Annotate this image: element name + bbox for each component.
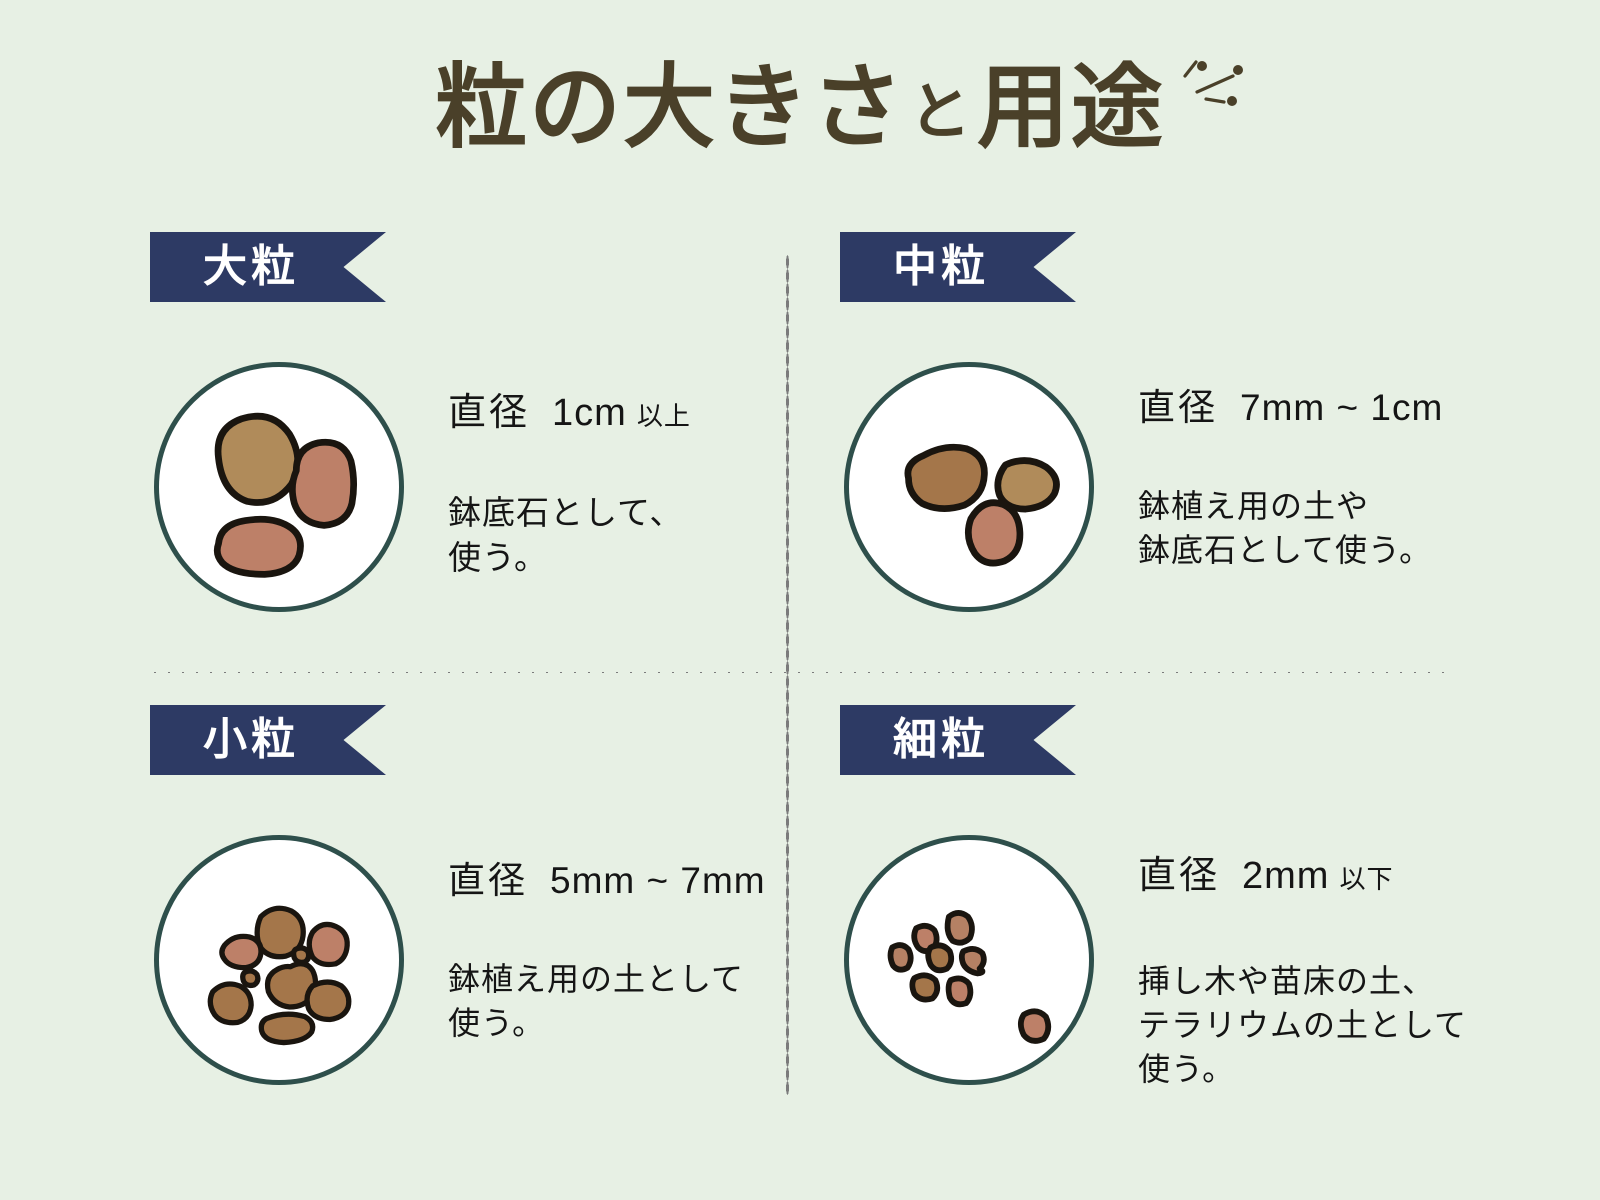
diameter-value: 7mm ~ 1cm bbox=[1218, 387, 1443, 428]
page-title-text: 粒の大きさと用途 bbox=[435, 60, 1165, 157]
granule-illustration-large bbox=[154, 362, 404, 612]
usage-line: 鉢底石として使う。 bbox=[1138, 528, 1518, 572]
banner-label: 細粒 bbox=[893, 718, 989, 762]
usage-line: 使う。 bbox=[448, 535, 828, 581]
banner-large: 大粒 bbox=[150, 232, 386, 302]
usage-line: 挿し木や苗床の土、 bbox=[1138, 959, 1518, 1003]
granule-illustration-small bbox=[154, 835, 404, 1085]
quadrant-small: 小粒 直径5mm ~ 7mm bbox=[130, 705, 830, 1145]
diameter-value: 1cm bbox=[530, 392, 627, 434]
usage-line: 使う。 bbox=[1138, 1047, 1518, 1091]
diameter-label: 直径 bbox=[1138, 387, 1218, 428]
diameter-suffix bbox=[766, 869, 776, 899]
usage-line: 鉢植え用の土として bbox=[448, 957, 828, 1001]
usage-fine: 挿し木や苗床の土、 テラリウムの土として 使う。 bbox=[1138, 959, 1518, 1091]
banner-fine: 細粒 bbox=[840, 705, 1076, 775]
diameter-line-medium: 直径7mm ~ 1cm bbox=[1138, 387, 1518, 430]
page-title: 粒の大きさと用途 bbox=[0, 60, 1600, 157]
banner-medium: 中粒 bbox=[840, 232, 1076, 302]
info-large: 直径1cm以上 鉢底石として、 使う。 bbox=[448, 392, 828, 581]
quadrant-fine: 細粒 直径2mm以下 挿し木や苗床の土、 bbox=[820, 705, 1520, 1145]
diameter-label: 直径 bbox=[448, 392, 530, 434]
granule-illustration-medium bbox=[844, 362, 1094, 612]
diameter-suffix: 以上 bbox=[627, 401, 691, 431]
banner-small: 小粒 bbox=[150, 705, 386, 775]
diameter-value: 5mm ~ 7mm bbox=[528, 860, 766, 901]
title-main: 粒の大きさ bbox=[435, 57, 905, 159]
diameter-line-large: 直径1cm以上 bbox=[448, 392, 828, 436]
infographic-poster: 粒の大きさと用途 大粒 直径1cm以上 bbox=[0, 0, 1600, 1200]
granule-illustration-fine bbox=[844, 835, 1094, 1085]
diameter-label: 直径 bbox=[448, 860, 528, 901]
usage-line: 鉢植え用の土や bbox=[1138, 484, 1518, 528]
info-small: 直径5mm ~ 7mm 鉢植え用の土として 使う。 bbox=[448, 860, 828, 1045]
diameter-line-small: 直径5mm ~ 7mm bbox=[448, 860, 828, 903]
diameter-label: 直径 bbox=[1138, 855, 1220, 897]
title-particle: と bbox=[905, 78, 977, 147]
usage-line: 鉢底石として、 bbox=[448, 490, 828, 536]
usage-large: 鉢底石として、 使う。 bbox=[448, 490, 828, 581]
usage-medium: 鉢植え用の土や 鉢底石として使う。 bbox=[1138, 484, 1518, 572]
banner-label: 中粒 bbox=[893, 245, 989, 289]
quadrant-large: 大粒 直径1cm以上 鉢底石として、 使う。 bbox=[130, 232, 830, 672]
diameter-line-fine: 直径2mm以下 bbox=[1138, 855, 1518, 899]
banner-label: 小粒 bbox=[203, 718, 299, 762]
usage-line: テラリウムの土として bbox=[1138, 1003, 1518, 1047]
quadrant-medium: 中粒 直径7mm ~ 1cm 鉢植え用の土や 鉢底石として使う。 bbox=[820, 232, 1520, 672]
diameter-value: 2mm bbox=[1220, 855, 1329, 897]
diameter-suffix: 以下 bbox=[1329, 864, 1393, 894]
title-tail: 用途 bbox=[977, 57, 1165, 159]
usage-line: 使う。 bbox=[448, 1001, 828, 1045]
info-fine: 直径2mm以下 挿し木や苗床の土、 テラリウムの土として 使う。 bbox=[1138, 855, 1518, 1091]
usage-small: 鉢植え用の土として 使う。 bbox=[448, 957, 828, 1045]
banner-label: 大粒 bbox=[203, 245, 299, 289]
info-medium: 直径7mm ~ 1cm 鉢植え用の土や 鉢底石として使う。 bbox=[1138, 387, 1518, 572]
diameter-suffix bbox=[1443, 396, 1453, 426]
